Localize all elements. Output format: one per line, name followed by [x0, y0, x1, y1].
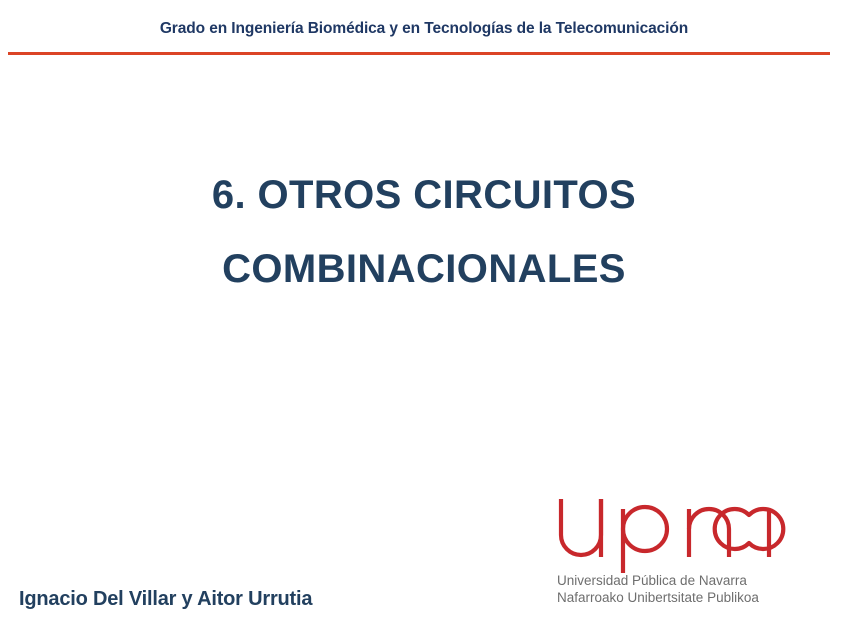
- upna-wordmark-icon: [553, 487, 793, 575]
- slide-title-line-2: COMBINACIONALES: [64, 232, 784, 306]
- authors-label: Ignacio Del Villar y Aitor Urrutia: [19, 588, 312, 611]
- upna-tagline-line-es: Universidad Pública de Navarra: [557, 573, 793, 590]
- upna-tagline-line-eu: Nafarroako Unibertsitate Publikoa: [557, 590, 793, 607]
- slide-title-block: 6. OTROS CIRCUITOS COMBINACIONALES: [64, 158, 784, 306]
- degree-program-title: Grado en Ingeniería Biomédica y en Tecno…: [0, 20, 848, 38]
- header-divider-rule: [8, 52, 830, 55]
- slide-title-line-1: 6. OTROS CIRCUITOS: [64, 158, 784, 232]
- upna-tagline: Universidad Pública de Navarra Nafarroak…: [557, 573, 793, 606]
- presentation-slide: Grado en Ingeniería Biomédica y en Tecno…: [0, 0, 848, 636]
- upna-logo: Universidad Pública de Navarra Nafarroak…: [553, 487, 793, 617]
- slide-header: Grado en Ingeniería Biomédica y en Tecno…: [0, 0, 848, 56]
